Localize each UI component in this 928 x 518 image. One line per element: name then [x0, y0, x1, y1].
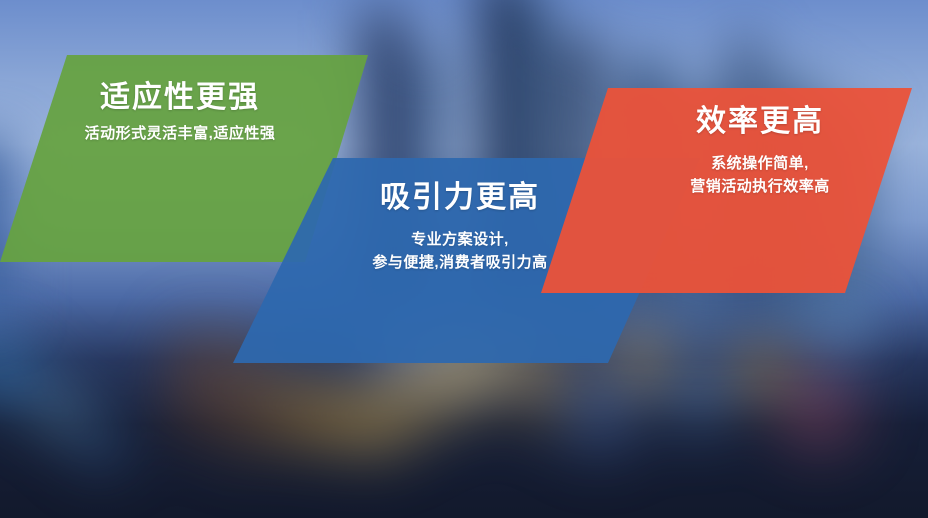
green-panel-text: 适应性更强 活动形式灵活丰富,适应性强	[40, 82, 320, 145]
red-panel-text: 效率更高 系统操作简单, 营销活动执行效率高	[620, 106, 900, 198]
green-panel-title: 适应性更强	[40, 82, 320, 114]
green-panel-subtitle-line-1: 活动形式灵活丰富,适应性强	[40, 122, 320, 145]
blue-panel-text: 吸引力更高 专业方案设计, 参与便捷,消费者吸引力高	[300, 182, 620, 274]
banner-stage: 适应性更强 活动形式灵活丰富,适应性强 吸引力更高 专业方案设计, 参与便捷,消…	[0, 0, 928, 518]
red-panel-subtitle-line-2: 营销活动执行效率高	[620, 175, 900, 198]
red-panel-title: 效率更高	[620, 106, 900, 138]
red-panel-subtitle-line-1: 系统操作简单,	[620, 152, 900, 175]
blue-panel-title: 吸引力更高	[300, 182, 620, 214]
blue-panel-subtitle-line-1: 专业方案设计,	[300, 228, 620, 251]
blue-panel-subtitle-line-2: 参与便捷,消费者吸引力高	[300, 251, 620, 274]
